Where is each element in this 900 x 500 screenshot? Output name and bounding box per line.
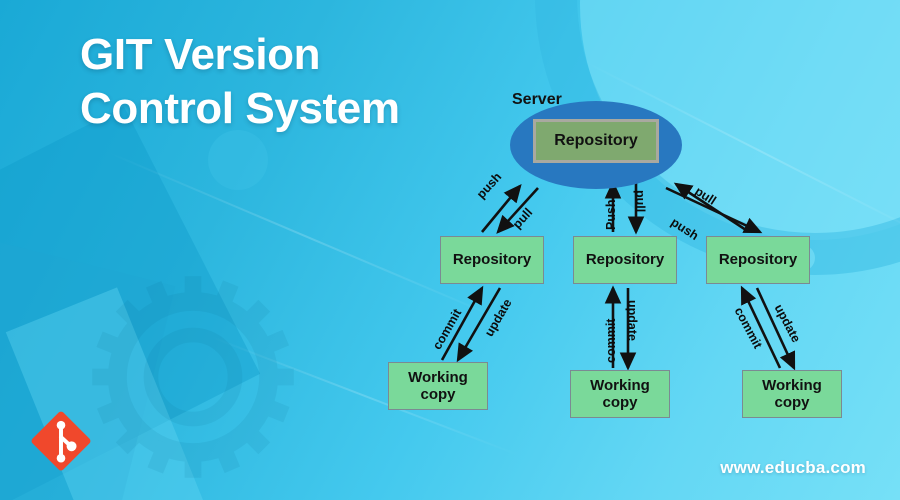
working-copy-box-left[interactable]: Working copy <box>388 362 488 410</box>
repository-box-right[interactable]: Repository <box>706 236 810 284</box>
edge-label-center-commit: commit <box>604 319 618 363</box>
page-title: GIT Version Control System <box>80 28 400 135</box>
repository-box-left[interactable]: Repository <box>440 236 544 284</box>
site-url: www.educba.com <box>720 458 866 478</box>
gear-icon <box>88 272 298 482</box>
edge-label-center-push: Push <box>604 199 618 230</box>
slide-canvas: GIT Version Control System www.educba.co… <box>0 0 900 500</box>
working-copy-box-center[interactable]: Working copy <box>570 370 670 418</box>
repository-box-center[interactable]: Repository <box>573 236 677 284</box>
server-repository-box[interactable]: Repository <box>533 119 659 163</box>
accent-dot-top <box>208 130 268 190</box>
edge-label-center-pull: pull <box>633 190 647 212</box>
git-logo <box>28 408 94 474</box>
git-workflow-diagram: Server Repository Repository Repository … <box>370 80 830 440</box>
edge-label-center-update: update <box>625 300 639 341</box>
working-copy-box-right[interactable]: Working copy <box>742 370 842 418</box>
server-label: Server <box>512 91 562 109</box>
